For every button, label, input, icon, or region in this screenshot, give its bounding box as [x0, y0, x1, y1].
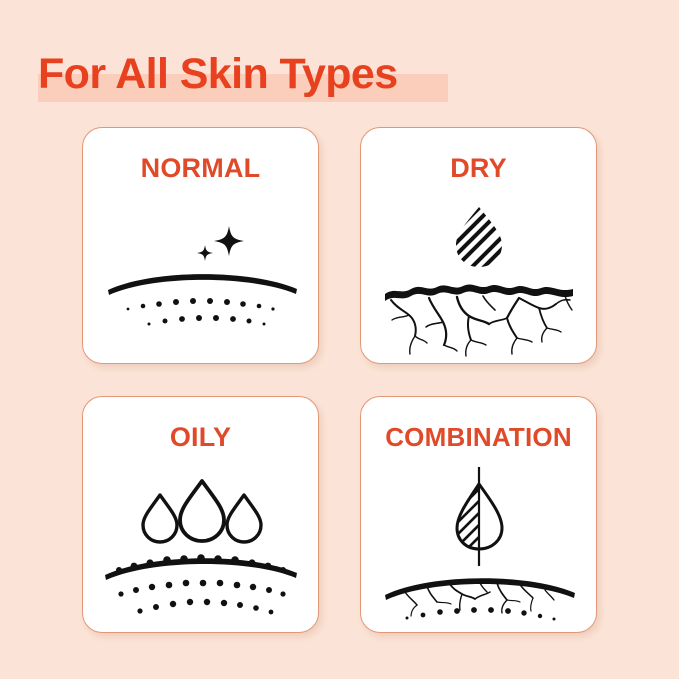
page-title: For All Skin Types [38, 44, 398, 104]
infographic-page: For All Skin Types NORMAL [0, 0, 679, 679]
card-label-combination: COMBINATION [361, 422, 596, 453]
card-label-normal: NORMAL [83, 153, 318, 184]
skin-type-card-dry[interactable]: DRY [360, 127, 597, 364]
hatched-droplet-cracked-skin-icon [361, 190, 597, 362]
card-label-oily: OILY [83, 422, 318, 453]
skin-type-card-combination[interactable]: COMBINATION [360, 396, 597, 633]
skin-type-grid: NORMAL [82, 127, 597, 633]
smooth-skin-sparkle-icon [83, 190, 319, 362]
page-title-block: For All Skin Types [38, 44, 398, 104]
skin-type-card-oily[interactable]: OILY [82, 396, 319, 633]
card-label-dry: DRY [361, 153, 596, 184]
skin-type-card-normal[interactable]: NORMAL [82, 127, 319, 364]
three-droplets-oily-skin-icon [83, 459, 319, 631]
split-droplet-mixed-skin-icon [361, 459, 597, 631]
